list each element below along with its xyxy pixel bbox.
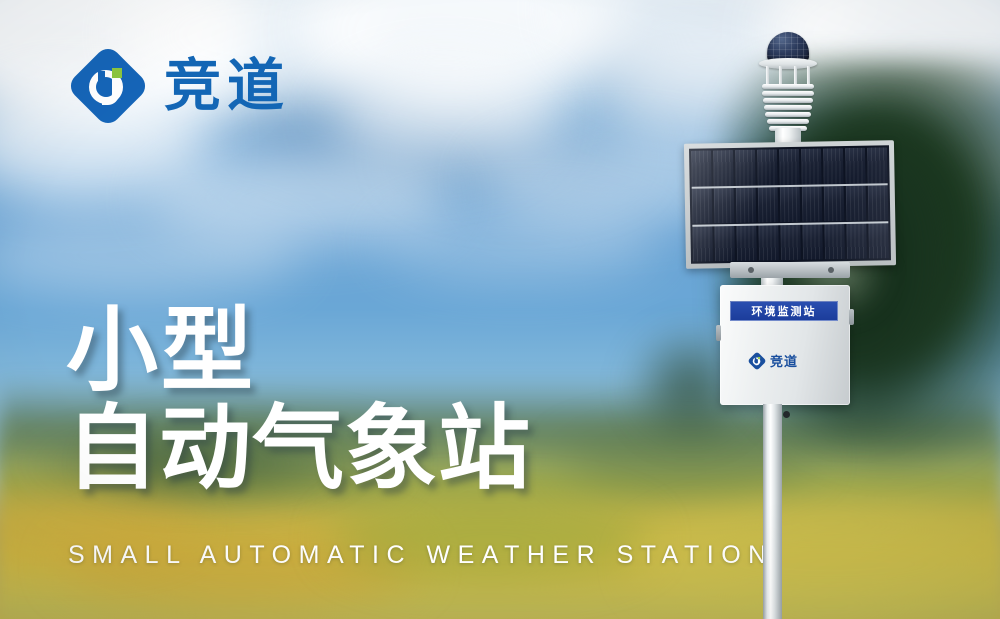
promotional-banner: 竞道 小型 自动气象站 SMALL AUTOMATIC WEATHER STAT… — [0, 0, 1000, 619]
brand-logo: 竞道 — [68, 46, 290, 126]
brand-wordmark: 竞道 — [164, 58, 290, 115]
weather-station-product: 环境监测站 竞道 — [660, 30, 920, 619]
cloud — [380, 205, 660, 280]
solar-cell-grid — [689, 145, 891, 263]
jingdao-diamond-logo-icon — [68, 46, 148, 126]
radiation-shield — [761, 84, 815, 134]
enclosure-brand-wordmark: 竞道 — [770, 351, 798, 370]
headline-line-2: 自动气象站 — [66, 400, 531, 498]
enclosure-label: 环境监测站 — [730, 301, 838, 321]
bracket-bolt — [748, 267, 754, 273]
ultrasonic-weather-sensor-icon — [755, 30, 821, 160]
mounting-pole-icon — [763, 404, 782, 619]
enclosure-mount-ear — [849, 309, 854, 325]
enclosure-mount-ear — [716, 325, 721, 341]
solar-panel-frame — [684, 140, 896, 269]
enclosure-bolt — [783, 411, 790, 418]
bracket-bolt — [828, 267, 834, 273]
enclosure-brand-logo: 竞道 — [748, 351, 798, 370]
solar-panel-icon — [684, 140, 896, 269]
jingdao-diamond-logo-icon — [748, 352, 766, 370]
page-title: 小型 自动气象站 — [66, 302, 531, 499]
headline-line-1: 小型 — [66, 302, 531, 400]
control-enclosure: 环境监测站 竞道 — [720, 285, 850, 405]
